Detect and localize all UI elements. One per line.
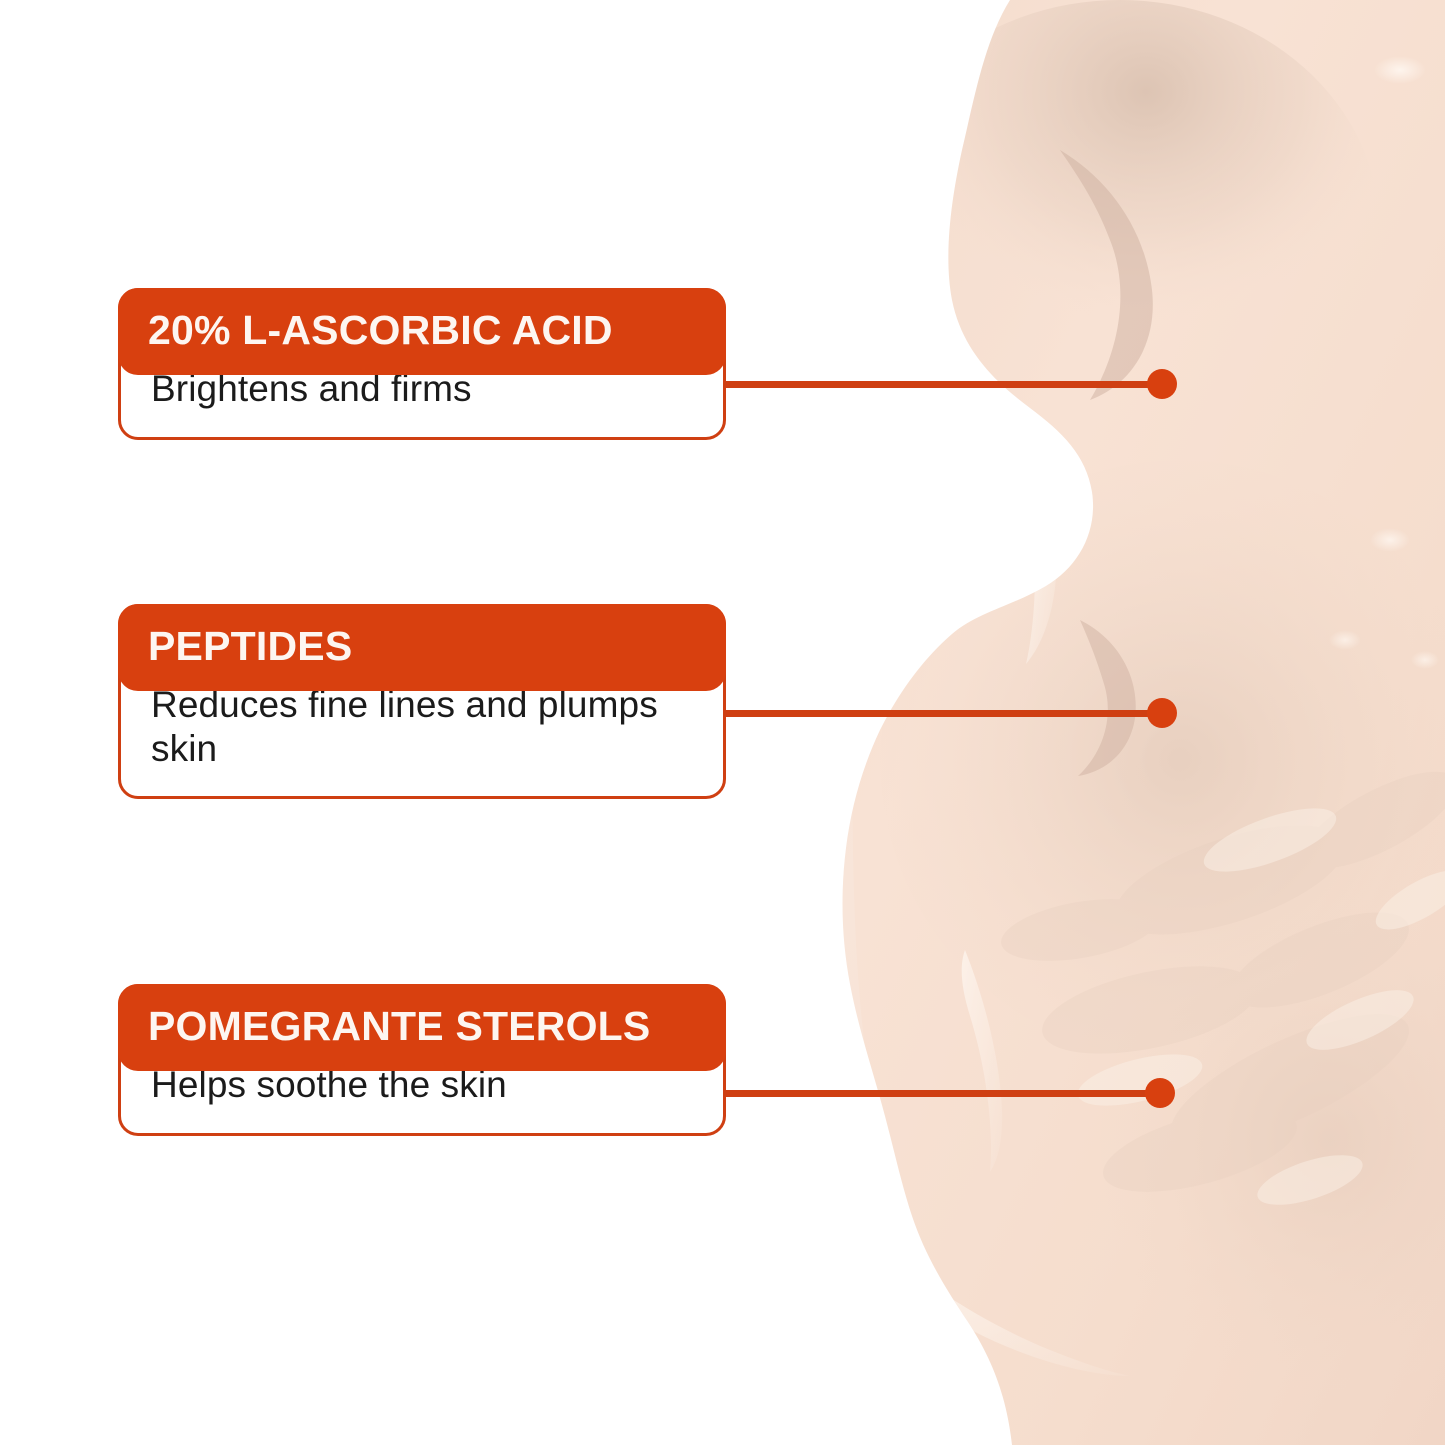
callout-title: 20% L-ASCORBIC ACID [148,310,696,351]
callout-body: PEPTIDES Reduces fine lines and plumps s… [118,604,726,799]
callout-card-peptides[interactable]: PEPTIDES Reduces fine lines and plumps s… [118,604,726,799]
leader-line-1 [722,381,1167,388]
leader-line-2 [722,710,1167,717]
ingredient-marker-3-dot-icon[interactable] [1145,1078,1175,1108]
leader-line-3 [722,1090,1165,1097]
ingredient-marker-2-dot-icon[interactable] [1147,698,1177,728]
callout-title: POMEGRANTE STEROLS [148,1006,696,1047]
ingredient-marker-1-dot-icon[interactable] [1147,369,1177,399]
infographic-canvas: 20% L-ASCORBIC ACID Brightens and firms … [0,0,1445,1445]
callout-card-pomegrante-sterols[interactable]: POMEGRANTE STEROLS Helps soothe the skin [118,984,726,1136]
callout-card-l-ascorbic-acid[interactable]: 20% L-ASCORBIC ACID Brightens and firms [118,288,726,440]
callout-title: PEPTIDES [148,626,696,667]
callout-header: 20% L-ASCORBIC ACID [118,288,726,375]
swatch-body [800,0,1445,1445]
callout-description: Reduces fine lines and plumps skin [151,683,693,770]
callout-body: POMEGRANTE STEROLS Helps soothe the skin [118,984,726,1136]
callout-header: PEPTIDES [118,604,726,691]
callout-header: POMEGRANTE STEROLS [118,984,726,1071]
callout-body: 20% L-ASCORBIC ACID Brightens and firms [118,288,726,440]
